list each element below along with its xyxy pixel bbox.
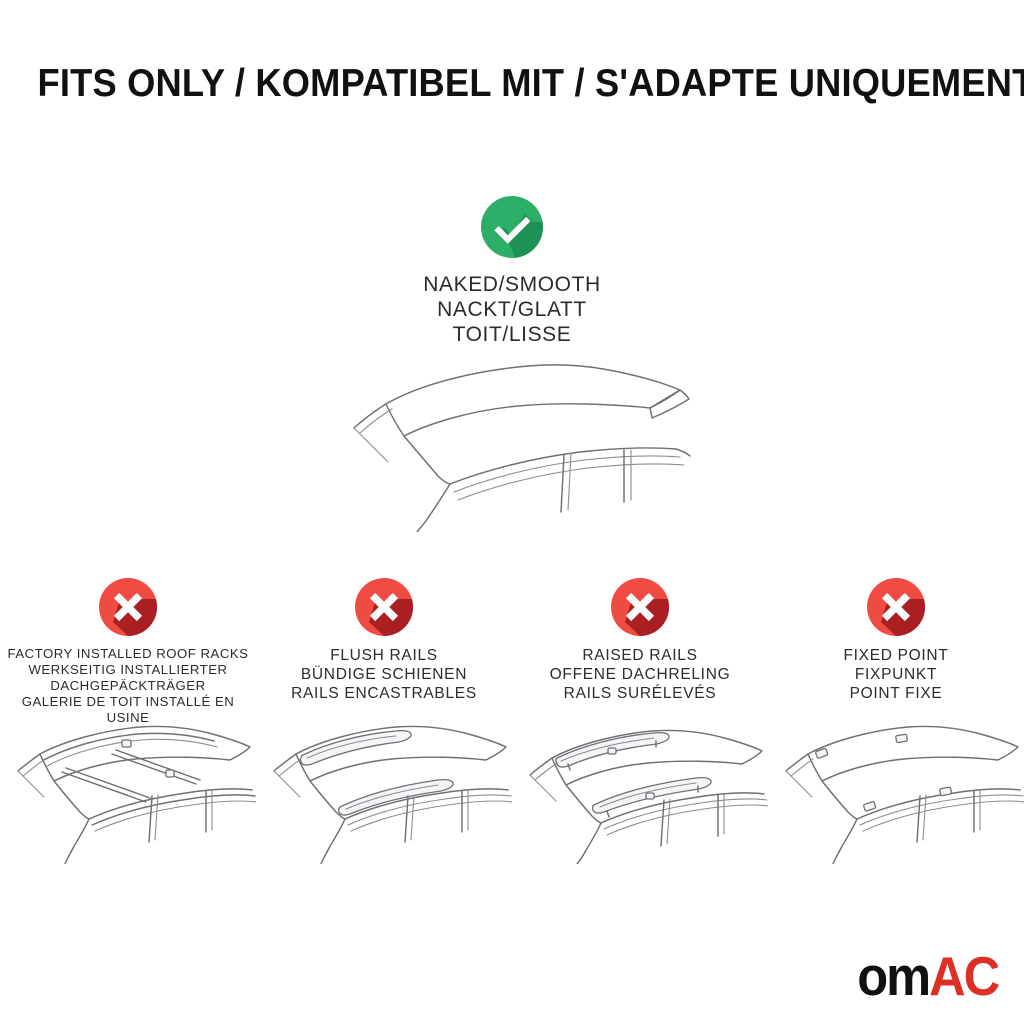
omac-logo-part-ac: AC <box>929 945 998 1007</box>
compatible-label-line-1: NAKED/SMOOTH <box>423 273 601 296</box>
label-line-2: FIXPUNKT <box>772 665 1020 684</box>
compatible-roof-type-label: NAKED/SMOOTH NACKT/GLATT TOIT/LISSE <box>0 272 1024 347</box>
incompatible-item-raised-rails: RAISED RAILS OFFENE DACHRELING RAILS SUR… <box>512 578 768 703</box>
incompatible-item-fixed-point: FIXED POINT FIXPUNKT POINT FIXE <box>768 578 1024 703</box>
car-roof-flush-rails-illustration <box>256 714 512 864</box>
label-line-2: WERKSEITIG INSTALLIERTER <box>4 662 252 678</box>
label-line-3: POINT FIXE <box>772 684 1020 703</box>
incompatible-roof-illustrations-row <box>0 714 1024 864</box>
incompatible-label: FIXED POINT FIXPUNKT POINT FIXE <box>768 646 1024 703</box>
label-line-1: FACTORY INSTALLED ROOF RACKS <box>4 646 252 662</box>
car-roof-raised-rails-illustration <box>512 714 768 864</box>
compatible-label-line-2: NACKT/GLATT <box>437 298 587 321</box>
x-circle-icon <box>355 578 413 636</box>
label-line-3: RAILS SURÉLEVÉS <box>516 684 764 703</box>
label-line-3: DACHGEPÄCKTRÄGER <box>4 678 252 694</box>
label-line-1: FIXED POINT <box>772 646 1020 665</box>
page-title-container: FITS ONLY / KOMPATIBEL MIT / S'ADAPTE UN… <box>0 62 1024 106</box>
label-line-3: RAILS ENCASTRABLES <box>260 684 508 703</box>
car-roof-naked-smooth-illustration <box>332 352 692 532</box>
x-mark-glyph <box>99 578 157 636</box>
incompatible-item-flush-rails: FLUSH RAILS BÜNDIGE SCHIENEN RAILS ENCAS… <box>256 578 512 703</box>
incompatible-label: RAISED RAILS OFFENE DACHRELING RAILS SUR… <box>512 646 768 703</box>
x-mark-glyph <box>611 578 669 636</box>
check-circle-icon <box>481 196 543 258</box>
x-circle-icon <box>611 578 669 636</box>
incompatible-roof-types-row: FACTORY INSTALLED ROOF RACKS WERKSEITIG … <box>0 578 1024 726</box>
car-roof-factory-installed-roof-racks-illustration <box>0 714 256 864</box>
compatible-roof-type-block: NAKED/SMOOTH NACKT/GLATT TOIT/LISSE <box>0 196 1024 347</box>
car-roof-fixed-point-illustration <box>768 714 1024 864</box>
incompatible-label: FLUSH RAILS BÜNDIGE SCHIENEN RAILS ENCAS… <box>256 646 512 703</box>
label-line-2: BÜNDIGE SCHIENEN <box>260 665 508 684</box>
x-mark-glyph <box>355 578 413 636</box>
x-mark-glyph <box>867 578 925 636</box>
label-line-1: FLUSH RAILS <box>260 646 508 665</box>
x-circle-icon <box>99 578 157 636</box>
omac-logo-part-om: om <box>857 945 929 1007</box>
x-circle-icon <box>867 578 925 636</box>
label-line-2: OFFENE DACHRELING <box>516 665 764 684</box>
page-title: FITS ONLY / KOMPATIBEL MIT / S'ADAPTE UN… <box>38 62 1024 106</box>
compatible-label-line-3: TOIT/LISSE <box>453 323 572 346</box>
label-line-1: RAISED RAILS <box>516 646 764 665</box>
omac-logo: omAC <box>857 949 998 1004</box>
incompatible-item-factory-installed-roof-racks: FACTORY INSTALLED ROOF RACKS WERKSEITIG … <box>0 578 256 726</box>
check-mark-glyph <box>481 196 543 258</box>
